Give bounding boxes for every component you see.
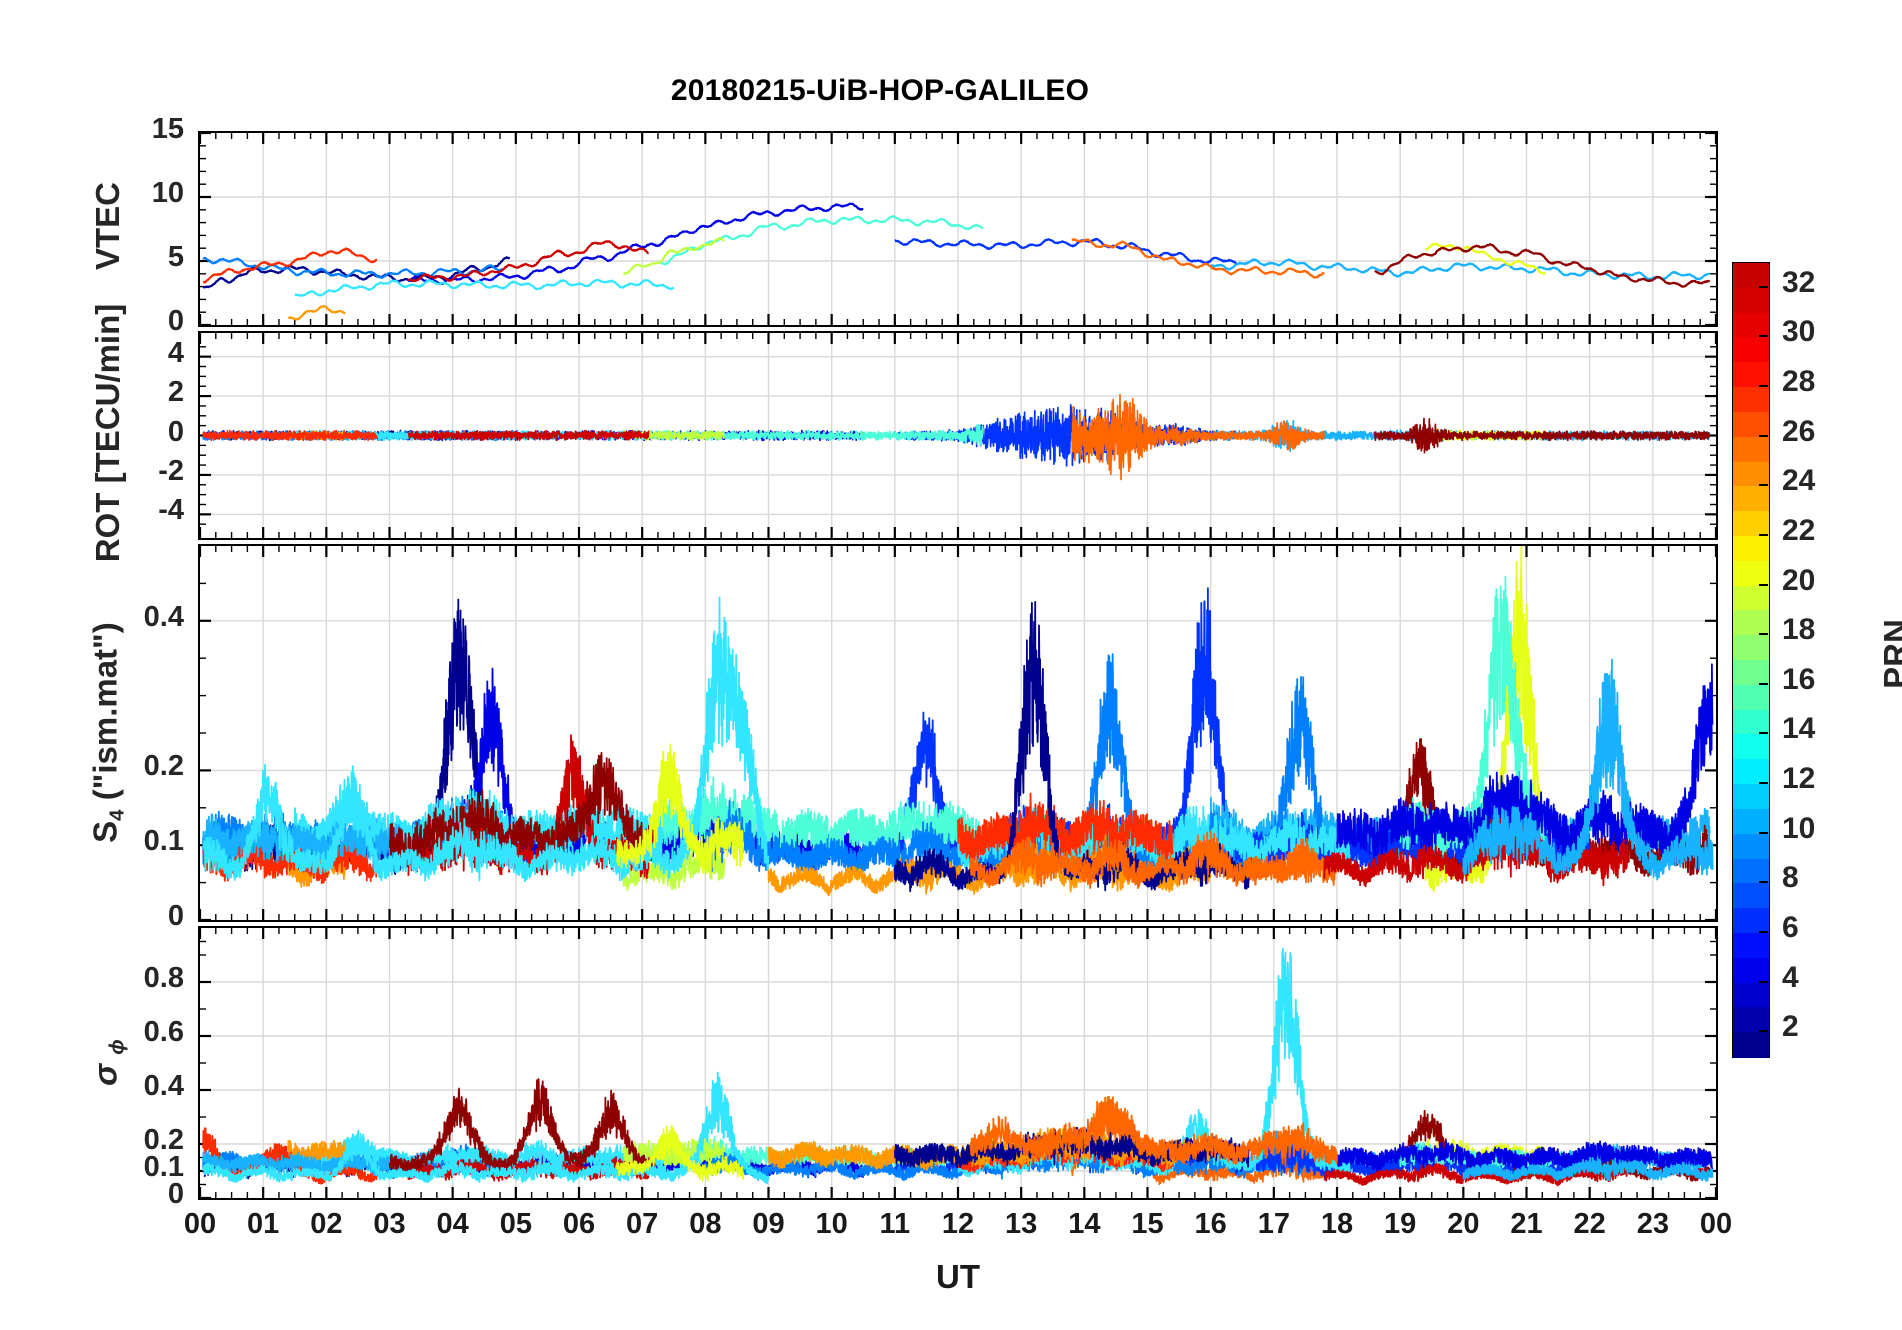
xtick-label: 10 <box>802 1208 862 1241</box>
ytick-label: 0.2 <box>144 750 184 783</box>
ytick-label: 0.4 <box>144 1070 184 1103</box>
colorbar-tick-label: 32 <box>1782 266 1815 300</box>
colorbar-segment <box>1733 412 1769 438</box>
colorbar-tick-mark <box>1759 1030 1768 1032</box>
colorbar-segment <box>1733 1007 1769 1033</box>
colorbar-tick-mark <box>1759 335 1768 337</box>
ytick-label: -4 <box>158 494 184 527</box>
colorbar-segment <box>1733 337 1769 363</box>
xtick-label: 12 <box>928 1208 988 1241</box>
colorbar-tick-mark <box>1759 484 1768 486</box>
ytick-label: 0 <box>168 305 184 338</box>
ytick-label: 0 <box>168 416 184 449</box>
colorbar-label-prn: PRN <box>1877 604 1902 704</box>
colorbar-tick-mark <box>1759 732 1768 734</box>
colorbar-segment <box>1733 685 1769 711</box>
axis-label-sigma-phi: σ ϕ <box>86 853 129 1273</box>
colorbar-segment <box>1733 462 1769 488</box>
xtick-label: 01 <box>233 1208 293 1241</box>
colorbar-tick-label: 24 <box>1782 464 1815 498</box>
colorbar-tick-label: 8 <box>1782 861 1799 895</box>
xtick-label: 06 <box>549 1208 609 1241</box>
colorbar-segment <box>1733 288 1769 314</box>
colorbar-segment <box>1733 387 1769 413</box>
colorbar-tick-label: 26 <box>1782 415 1815 449</box>
colorbar-segment <box>1733 1032 1769 1058</box>
colorbar-segment <box>1733 561 1769 587</box>
colorbar-segment <box>1733 859 1769 885</box>
colorbar-prn[interactable] <box>1732 262 1770 1058</box>
colorbar-segment <box>1733 362 1769 388</box>
colorbar-segment <box>1733 710 1769 736</box>
colorbar-tick-label: 14 <box>1782 712 1815 746</box>
ytick-label: 5 <box>168 241 184 274</box>
colorbar-segment <box>1733 486 1769 512</box>
colorbar-tick-label: 20 <box>1782 564 1815 598</box>
colorbar-tick-mark <box>1759 981 1768 983</box>
ytick-label: 0.4 <box>144 601 184 634</box>
colorbar-tick-mark <box>1759 584 1768 586</box>
xtick-label: 14 <box>1054 1208 1114 1241</box>
colorbar-segment <box>1733 263 1769 289</box>
page-title: 20180215-UiB-HOP-GALILEO <box>0 74 1760 108</box>
colorbar-segment <box>1733 536 1769 562</box>
colorbar-tick-label: 18 <box>1782 613 1815 647</box>
xtick-label: 00 <box>170 1208 230 1241</box>
xtick-label: 02 <box>296 1208 356 1241</box>
xtick-label: 13 <box>991 1208 1051 1241</box>
xtick-label: 21 <box>1497 1208 1557 1241</box>
xtick-label: 09 <box>739 1208 799 1241</box>
ytick-label: 0 <box>168 900 184 933</box>
colorbar-segment <box>1733 759 1769 785</box>
xtick-label: 17 <box>1244 1208 1304 1241</box>
colorbar-segment <box>1733 784 1769 810</box>
panel-sigma-phi <box>198 926 1718 1200</box>
ytick-label: 0.8 <box>144 962 184 995</box>
colorbar-segment <box>1733 809 1769 835</box>
xtick-label: 19 <box>1370 1208 1430 1241</box>
colorbar-tick-label: 10 <box>1782 812 1815 846</box>
ytick-label: -2 <box>158 455 184 488</box>
ytick-label: 0.1 <box>144 825 184 858</box>
ytick-label: 4 <box>168 337 184 370</box>
colorbar-segment <box>1733 958 1769 984</box>
colorbar-segment <box>1733 586 1769 612</box>
colorbar-tick-label: 6 <box>1782 911 1799 945</box>
ytick-label: 2 <box>168 376 184 409</box>
xtick-label: 22 <box>1560 1208 1620 1241</box>
panel-s4 <box>198 544 1718 922</box>
colorbar-segment <box>1733 983 1769 1009</box>
xtick-label: 00 <box>1686 1208 1746 1241</box>
colorbar-segment <box>1733 313 1769 339</box>
colorbar-segment <box>1733 834 1769 860</box>
colorbar-tick-mark <box>1759 534 1768 536</box>
colorbar-segment <box>1733 660 1769 686</box>
panel-vtec <box>198 131 1718 327</box>
colorbar-tick-mark <box>1759 435 1768 437</box>
xtick-label: 15 <box>1118 1208 1178 1241</box>
xtick-label: 07 <box>612 1208 672 1241</box>
colorbar-segment <box>1733 635 1769 661</box>
xtick-label: 20 <box>1433 1208 1493 1241</box>
colorbar-tick-label: 4 <box>1782 961 1799 995</box>
xtick-label: 03 <box>360 1208 420 1241</box>
colorbar-segment <box>1733 437 1769 463</box>
xtick-label: 08 <box>675 1208 735 1241</box>
axis-label-ut: UT <box>858 1258 1058 1296</box>
colorbar-segment <box>1733 933 1769 959</box>
xtick-label: 05 <box>486 1208 546 1241</box>
colorbar-tick-label: 30 <box>1782 315 1815 349</box>
colorbar-segment <box>1733 908 1769 934</box>
colorbar-tick-label: 22 <box>1782 514 1815 548</box>
colorbar-tick-mark <box>1759 286 1768 288</box>
xtick-label: 11 <box>865 1208 925 1241</box>
panel-rot <box>198 331 1718 540</box>
xtick-label: 18 <box>1307 1208 1367 1241</box>
colorbar-segment <box>1733 610 1769 636</box>
xtick-label: 04 <box>423 1208 483 1241</box>
colorbar-segment <box>1733 883 1769 909</box>
colorbar-tick-mark <box>1759 385 1768 387</box>
colorbar-tick-label: 28 <box>1782 365 1815 399</box>
colorbar-segment <box>1733 734 1769 760</box>
colorbar-segment <box>1733 511 1769 537</box>
colorbar-tick-label: 2 <box>1782 1010 1799 1044</box>
colorbar-tick-mark <box>1759 931 1768 933</box>
ytick-label: 10 <box>152 177 184 210</box>
colorbar-tick-mark <box>1759 633 1768 635</box>
xtick-label: 16 <box>1181 1208 1241 1241</box>
colorbar-tick-mark <box>1759 683 1768 685</box>
colorbar-tick-mark <box>1759 832 1768 834</box>
ytick-label: 15 <box>152 113 184 146</box>
ytick-label: 0.6 <box>144 1016 184 1049</box>
ytick-label: 0 <box>168 1178 184 1211</box>
colorbar-tick-label: 12 <box>1782 762 1815 796</box>
colorbar-tick-label: 16 <box>1782 663 1815 697</box>
colorbar-tick-mark <box>1759 881 1768 883</box>
xtick-label: 23 <box>1623 1208 1683 1241</box>
colorbar-tick-mark <box>1759 782 1768 784</box>
